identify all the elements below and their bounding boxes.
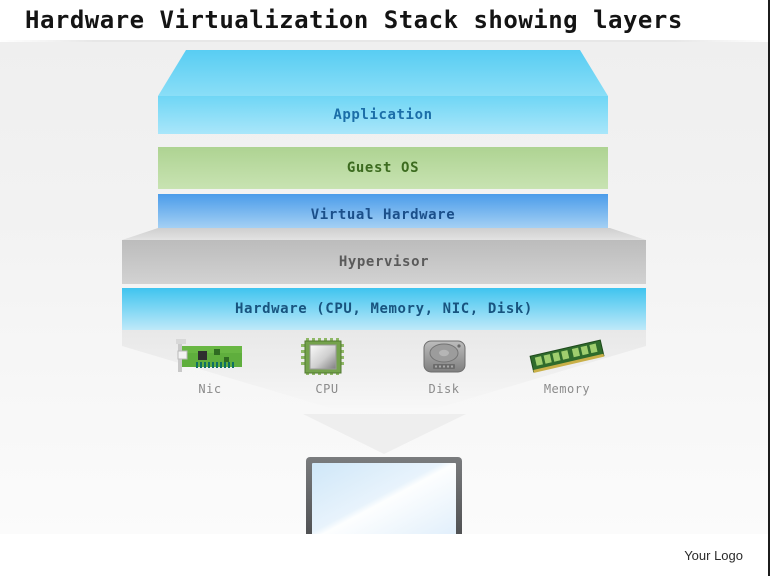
nic-icon (162, 336, 258, 378)
memory-icon (519, 336, 615, 378)
slide-root: Hardware Virtualization Stack showing la… (0, 0, 770, 576)
stack-layer-guest-os[interactable]: Guest OS (158, 147, 608, 189)
logo-placeholder: Your Logo (684, 548, 743, 563)
disk-icon (396, 336, 492, 378)
application-layer-label: Application (333, 107, 432, 123)
hardware-icon-disk[interactable]: Disk (396, 336, 492, 396)
cpu-icon (279, 336, 375, 378)
stack-layer-application[interactable]: Application (158, 50, 608, 134)
hardware-icon-memory[interactable]: Memory (519, 336, 615, 396)
memory-icon-label: Memory (519, 382, 615, 396)
nic-icon-label: Nic (162, 382, 258, 396)
stack-layer-hardware[interactable]: Hardware (CPU, Memory, NIC, Disk) (122, 288, 646, 330)
monitor-display[interactable] (303, 454, 465, 534)
diagram-canvas: Application Guest OS (0, 42, 768, 534)
stack-layer-hypervisor[interactable]: Hypervisor (122, 228, 646, 284)
cpu-icon-label: CPU (279, 382, 375, 396)
hardware-icon-cpu[interactable]: CPU (279, 336, 375, 396)
disk-icon-label: Disk (396, 382, 492, 396)
hardware-icon-nic[interactable]: Nic (162, 336, 258, 396)
page-title: Hardware Virtualization Stack showing la… (25, 6, 683, 34)
guest-os-layer-label: Guest OS (347, 160, 419, 176)
hardware-layer-label: Hardware (CPU, Memory, NIC, Disk) (235, 301, 533, 317)
hypervisor-layer-label: Hypervisor (339, 254, 429, 270)
monitor-icon (303, 454, 465, 534)
virtual-hardware-layer-label: Virtual Hardware (311, 207, 455, 223)
footer-band (0, 534, 768, 576)
